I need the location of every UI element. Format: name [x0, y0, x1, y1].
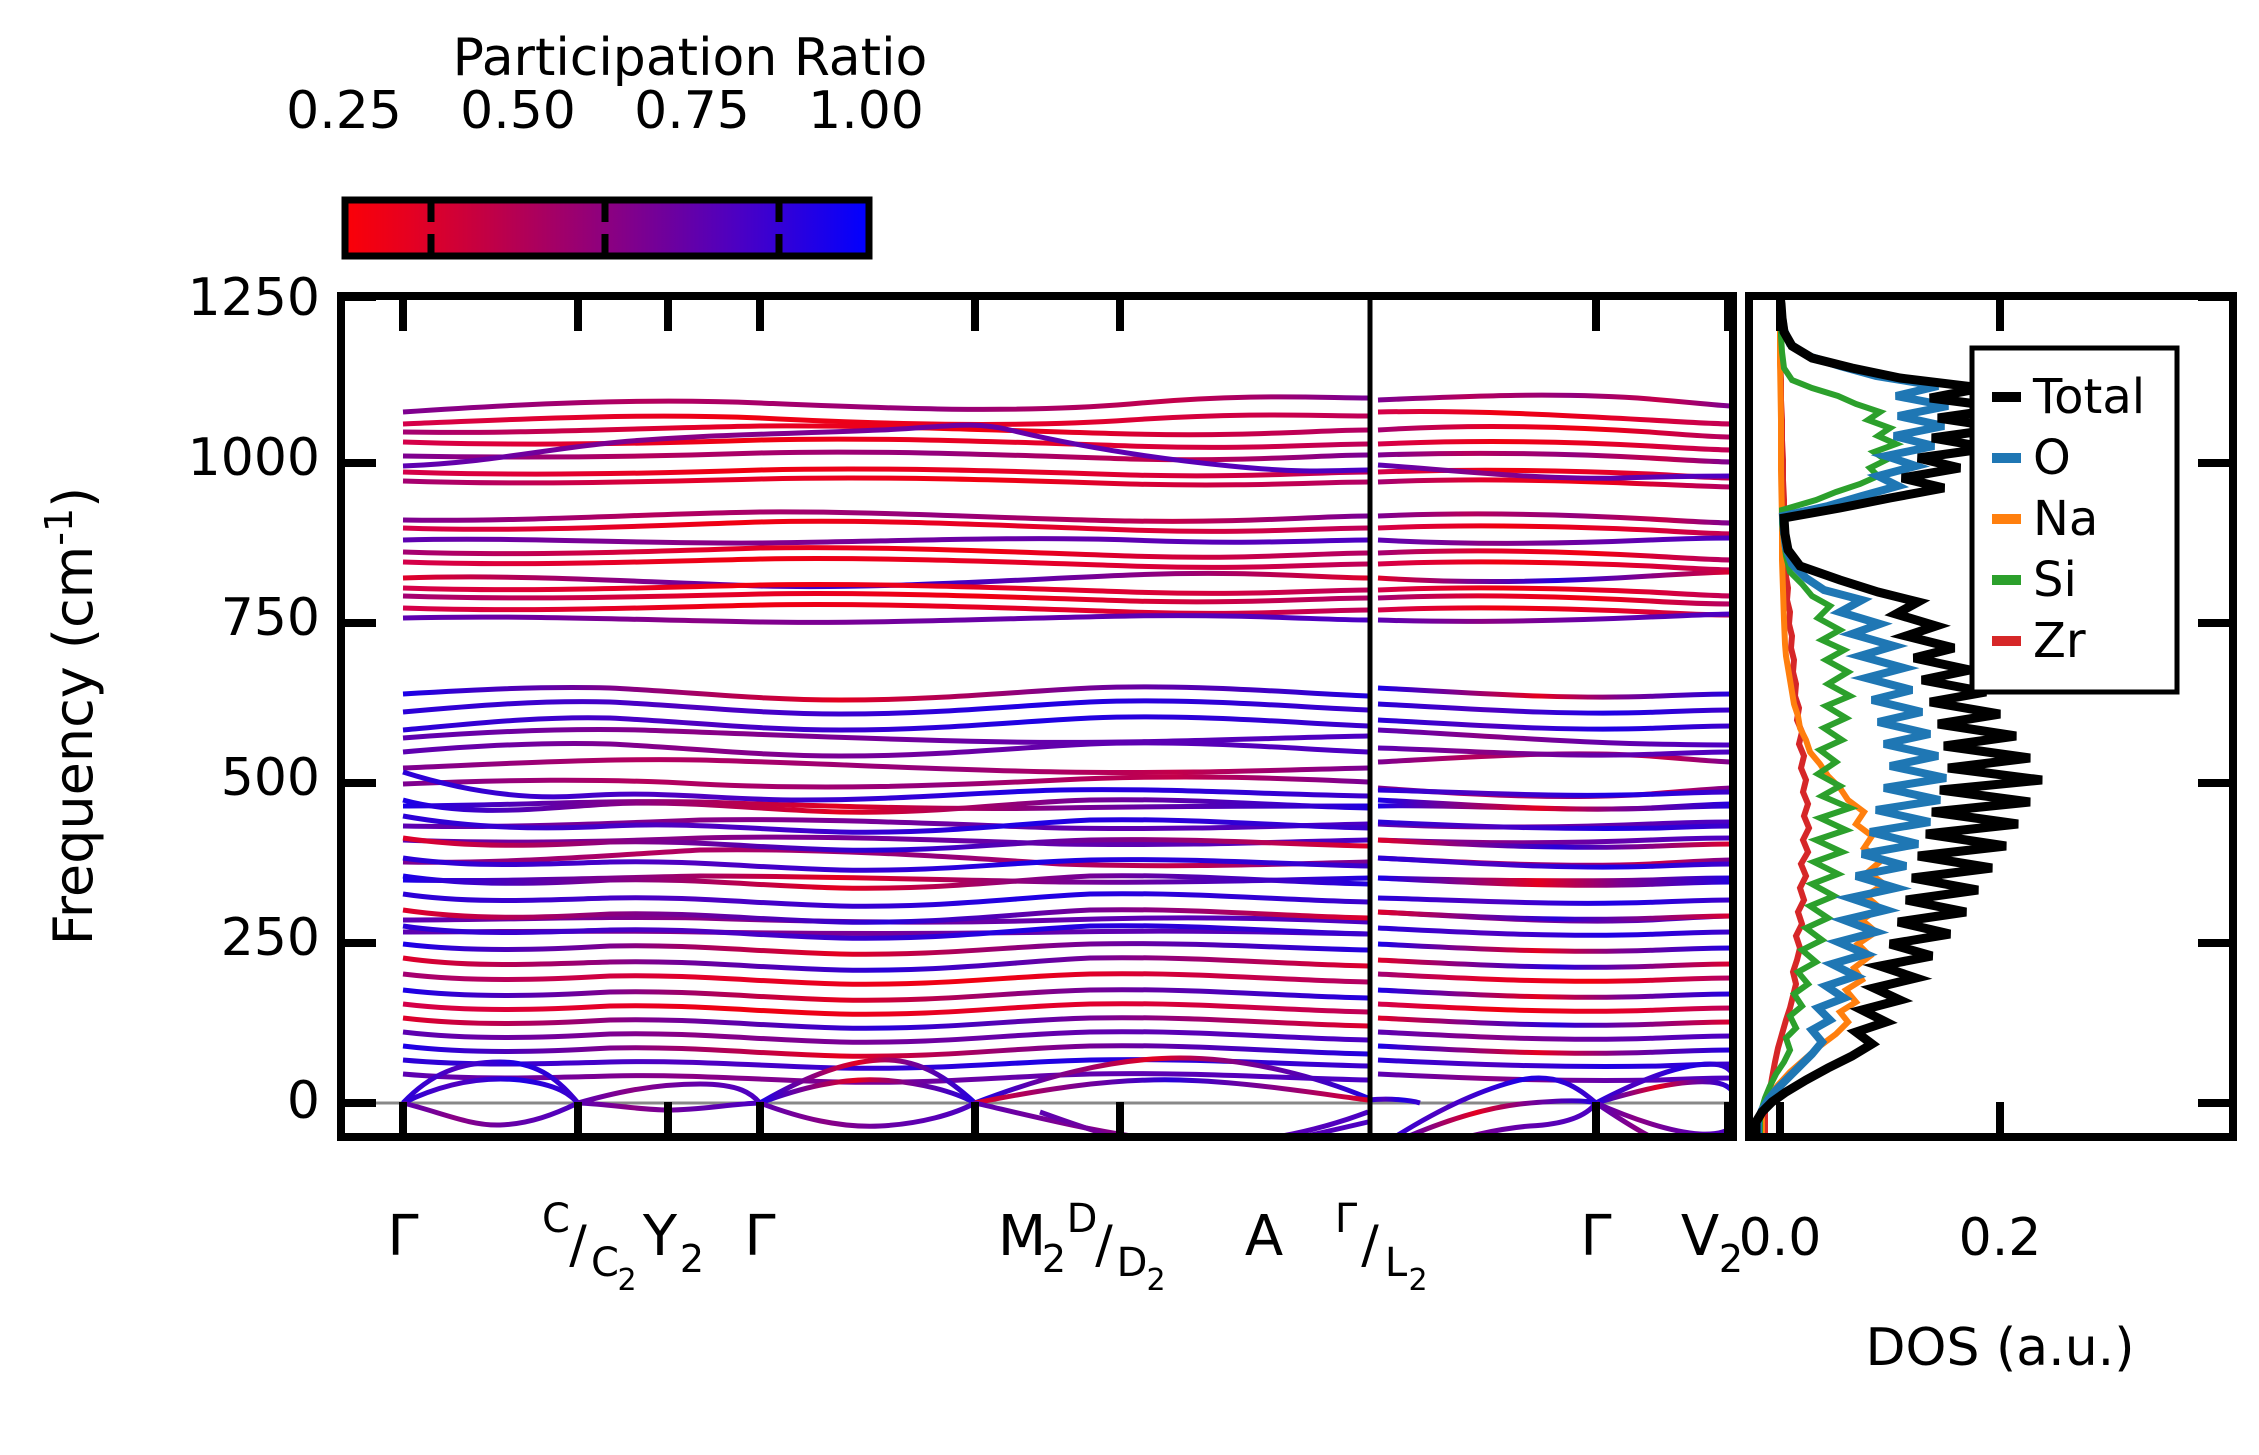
- xtick-y-main: Y: [642, 1204, 678, 1269]
- xtick-label-v2: V 2: [1681, 1204, 1743, 1281]
- xtick-gamma-numerator: Γ: [1335, 1196, 1358, 1242]
- xtick-m-main: M: [998, 1204, 1046, 1269]
- bands-panel: 1250 1000 750 500 250 0: [188, 268, 1743, 1298]
- dos-curve-zr: [1765, 296, 1809, 1137]
- ytick-label-1250: 1250: [188, 268, 320, 328]
- xtick-l-denominator: L: [1385, 1240, 1408, 1286]
- legend-label-na: Na: [2033, 491, 2098, 547]
- dos-x-axis-label: DOS (a.u.): [1866, 1318, 2135, 1378]
- xtick-slash-2: /: [1095, 1215, 1113, 1275]
- xtick-label-gamma-1: Γ: [387, 1204, 418, 1269]
- xtick-slash-1: /: [569, 1215, 587, 1275]
- dos-xtick-label-1: 0.2: [1959, 1208, 2042, 1268]
- xtick-c-numerator: C: [542, 1196, 570, 1242]
- xtick-label-gamma-over-l2: Γ / L 2: [1335, 1196, 1428, 1298]
- dos-legend: Total O Na Si Zr: [1972, 348, 2177, 692]
- xtick-slash-3: /: [1361, 1215, 1379, 1275]
- ytick-label-1000: 1000: [188, 428, 320, 488]
- dos-panel: 0.0 0.2 DOS (a.u.) Total O Na Si: [1739, 296, 2233, 1378]
- colorbar: Participation Ratio 0.25 0.50 0.75 1.00: [286, 28, 927, 256]
- phonon-figure-svg: Participation Ratio 0.25 0.50 0.75 1.00 …: [0, 0, 2259, 1455]
- figure-canvas: Participation Ratio 0.25 0.50 0.75 1.00 …: [0, 0, 2259, 1455]
- xtick-y-sub: 2: [680, 1237, 704, 1281]
- colorbar-title: Participation Ratio: [453, 28, 928, 88]
- ytick-label-0: 0: [287, 1071, 320, 1131]
- y-axis-label-tail: ): [42, 487, 105, 508]
- dos-y-ticks: [2198, 297, 2233, 1103]
- xtick-l-denominator-sub: 2: [1408, 1263, 1427, 1298]
- legend-label-zr: Zr: [2033, 613, 2086, 669]
- colorbar-tick-3: 1.00: [808, 81, 924, 141]
- bands-y-ticks: [341, 297, 376, 1103]
- legend-label-si: Si: [2033, 552, 2077, 608]
- band-group-dense: [403, 687, 1733, 1082]
- band-group-high: [403, 395, 1733, 622]
- xtick-m-sub: 2: [1042, 1237, 1066, 1281]
- dos-xtick-label-0: 0.0: [1739, 1208, 1822, 1268]
- svg-text:Frequency (cm-1): Frequency (cm-1): [37, 487, 105, 945]
- colorbar-tick-0: 0.25: [286, 81, 402, 141]
- ytick-label-750: 750: [221, 588, 320, 648]
- band-group-acoustic: [403, 1058, 1733, 1160]
- xtick-label-gamma-3: Γ: [1580, 1204, 1611, 1269]
- xtick-label-a: A: [1245, 1204, 1283, 1269]
- colorbar-tick-2: 0.75: [634, 81, 750, 141]
- ytick-label-250: 250: [221, 908, 320, 968]
- xtick-label-c-over-c2: C / C 2: [542, 1196, 637, 1298]
- xtick-label-y2: Y 2: [642, 1204, 704, 1281]
- band-curves: [403, 395, 1733, 1160]
- bands-x-tick-labels: Γ C / C 2 Y 2 Γ M 2 D / D 2: [387, 1196, 1743, 1298]
- legend-label-o: O: [2033, 430, 2071, 486]
- y-axis-label-exponent: -1: [37, 508, 81, 546]
- xtick-d-denominator-sub: 2: [1146, 1263, 1165, 1298]
- xtick-c-denominator: C: [591, 1240, 619, 1286]
- y-axis-label-main: Frequency (cm: [42, 546, 105, 946]
- xtick-d-denominator: D: [1117, 1240, 1148, 1286]
- ytick-label-500: 500: [221, 748, 320, 808]
- y-axis-label-group: Frequency (cm-1): [37, 487, 105, 945]
- xtick-v-main: V: [1681, 1204, 1719, 1269]
- legend-label-total: Total: [2032, 369, 2145, 425]
- xtick-d-numerator: D: [1067, 1196, 1098, 1242]
- xtick-c-denominator-sub: 2: [617, 1263, 636, 1298]
- xtick-label-gamma-2: Γ: [744, 1204, 775, 1269]
- xtick-label-m2-d-over-d2: M 2 D / D 2: [998, 1196, 1166, 1298]
- colorbar-tick-1: 0.50: [460, 81, 576, 141]
